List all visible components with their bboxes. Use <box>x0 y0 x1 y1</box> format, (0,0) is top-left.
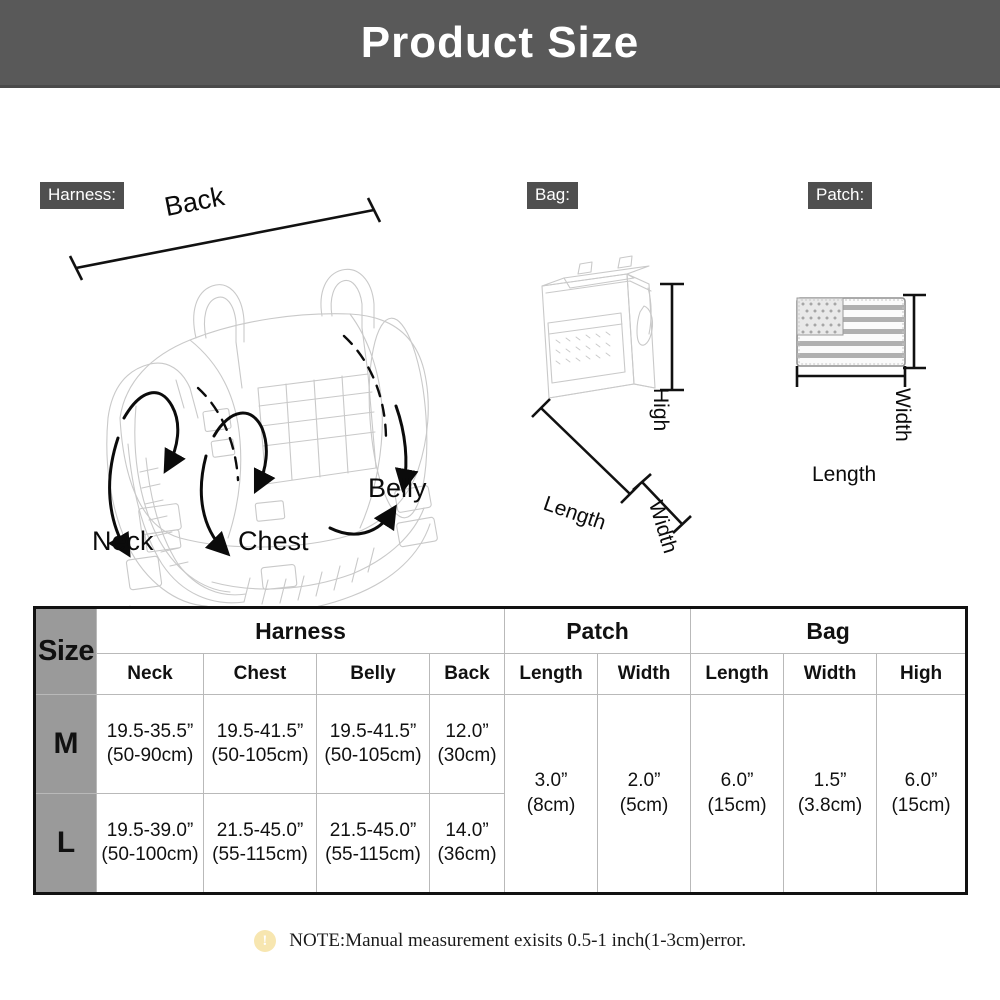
size-label-l: L <box>35 794 97 894</box>
size-table: Size Harness Patch Bag Neck Chest Belly … <box>33 606 968 895</box>
cell-l-harness-neck: 19.5-39.0” (50-100cm) <box>97 794 204 894</box>
value-cm: (50-105cm) <box>318 744 428 768</box>
value-cm: (50-100cm) <box>98 843 202 867</box>
value-cm: (55-115cm) <box>205 843 315 867</box>
value-cm: (55-115cm) <box>318 843 428 867</box>
column-header-harness-neck: Neck <box>97 654 204 695</box>
value-cm: (3.8cm) <box>785 794 875 818</box>
group-header-harness: Harness <box>97 608 505 654</box>
cell-l-harness-chest: 21.5-45.0” (55-115cm) <box>204 794 317 894</box>
column-header-patch-length: Length <box>505 654 598 695</box>
value-inch: 19.5-35.5” <box>107 721 194 742</box>
cell-bag-high: 6.0” (15cm) <box>877 695 967 894</box>
cell-l-harness-belly: 21.5-45.0” (55-115cm) <box>317 794 430 894</box>
note-text: NOTE:Manual measurement exisits 0.5-1 in… <box>289 930 746 952</box>
value-inch: 21.5-45.0” <box>330 820 417 841</box>
value-cm: (50-90cm) <box>98 744 202 768</box>
value-cm: (5cm) <box>599 794 689 818</box>
group-header-patch: Patch <box>505 608 691 654</box>
table-column-header-row: Neck Chest Belly Back Length Width Lengt… <box>35 654 967 695</box>
value-inch: 2.0” <box>628 770 661 791</box>
cell-l-harness-back: 14.0” (36cm) <box>430 794 505 894</box>
column-header-bag-width: Width <box>784 654 877 695</box>
table-group-header-row: Size Harness Patch Bag <box>35 608 967 654</box>
cell-m-harness-back: 12.0” (30cm) <box>430 695 505 794</box>
group-header-bag: Bag <box>691 608 967 654</box>
value-inch: 19.5-41.5” <box>330 721 417 742</box>
value-cm: (15cm) <box>878 794 964 818</box>
column-header-harness-belly: Belly <box>317 654 430 695</box>
header-banner: Product Size <box>0 0 1000 88</box>
value-cm: (15cm) <box>692 794 782 818</box>
value-inch: 12.0” <box>445 721 488 742</box>
cell-patch-width: 2.0” (5cm) <box>598 695 691 894</box>
cell-m-harness-belly: 19.5-41.5” (50-105cm) <box>317 695 430 794</box>
cell-m-harness-neck: 19.5-35.5” (50-90cm) <box>97 695 204 794</box>
value-inch: 3.0” <box>535 770 568 791</box>
note-row: ! NOTE:Manual measurement exisits 0.5-1 … <box>0 930 1000 952</box>
cell-bag-width: 1.5” (3.8cm) <box>784 695 877 894</box>
column-header-bag-length: Length <box>691 654 784 695</box>
value-inch: 21.5-45.0” <box>217 820 304 841</box>
value-inch: 19.5-39.0” <box>107 820 194 841</box>
column-header-patch-width: Width <box>598 654 691 695</box>
column-header-harness-back: Back <box>430 654 505 695</box>
value-cm: (36cm) <box>431 843 503 867</box>
patch-length-label: Length <box>812 463 876 487</box>
column-header-harness-chest: Chest <box>204 654 317 695</box>
value-inch: 6.0” <box>721 770 754 791</box>
value-cm: (30cm) <box>431 744 503 768</box>
cell-m-harness-chest: 19.5-41.5” (50-105cm) <box>204 695 317 794</box>
value-inch: 1.5” <box>814 770 847 791</box>
value-cm: (50-105cm) <box>205 744 315 768</box>
page-title: Product Size <box>0 0 1000 85</box>
value-inch: 6.0” <box>905 770 938 791</box>
warning-icon: ! <box>254 930 276 952</box>
value-cm: (8cm) <box>506 794 596 818</box>
column-header-bag-high: High <box>877 654 967 695</box>
cell-patch-length: 3.0” (8cm) <box>505 695 598 894</box>
patch-width-label: Width <box>890 388 914 442</box>
diagram-area: Harness: Back Neck Chest Belly <box>0 88 1000 575</box>
patch-dimension-lines <box>0 88 1000 575</box>
table-row: M 19.5-35.5” (50-90cm) 19.5-41.5” (50-10… <box>35 695 967 794</box>
value-inch: 14.0” <box>445 820 488 841</box>
size-header-cell: Size <box>35 608 97 695</box>
size-label-m: M <box>35 695 97 794</box>
patch-badge: Patch: <box>808 182 872 209</box>
value-inch: 19.5-41.5” <box>217 721 304 742</box>
cell-bag-length: 6.0” (15cm) <box>691 695 784 894</box>
